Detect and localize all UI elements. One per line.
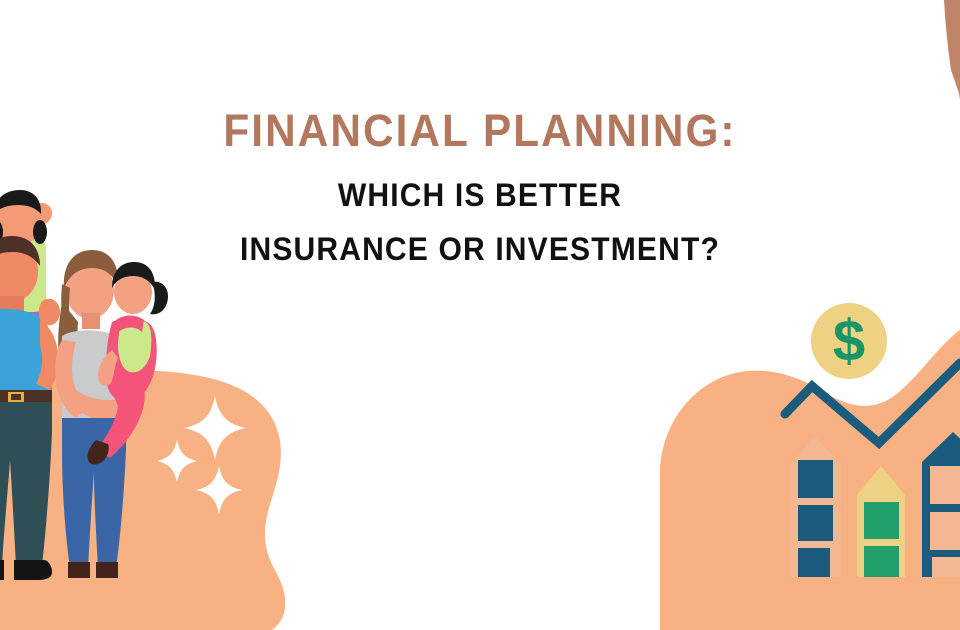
left-illustration-family [0,0,960,630]
father-figure [0,236,60,580]
banner-canvas: $ [0,0,960,630]
